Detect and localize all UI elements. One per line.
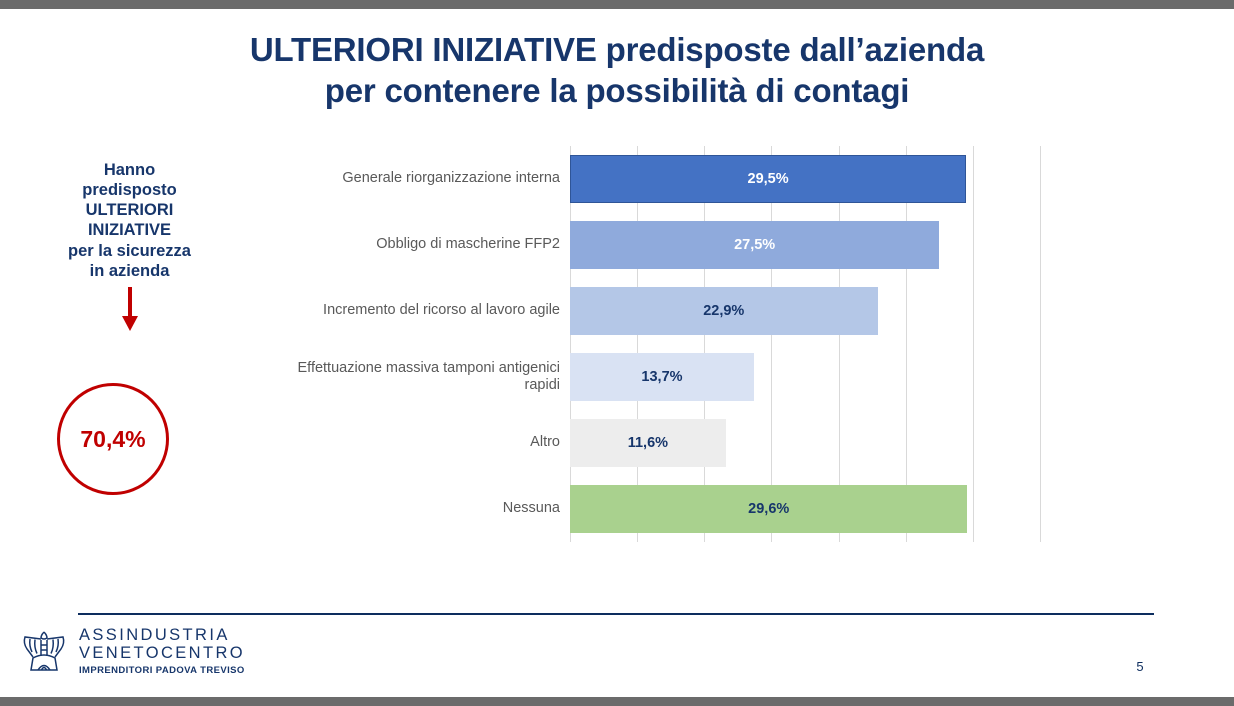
- callout-line-6: in azienda: [22, 261, 237, 281]
- chart-gridline: [1040, 146, 1041, 542]
- footer-divider: [78, 613, 1154, 615]
- highlight-circle: 70,4%: [57, 383, 169, 495]
- assindustria-eagle-logo-icon: [18, 625, 70, 677]
- logo-line-2: VENETOCENTRO: [79, 645, 245, 662]
- callout-block: Hanno predisposto ULTERIORI INIZIATIVE p…: [22, 160, 237, 335]
- chart-category-label: Generale riorganizzazione interna: [280, 170, 570, 187]
- chart-bar-value-label: 27,5%: [734, 237, 775, 253]
- chart-bar-track: 29,6%: [570, 476, 1040, 542]
- chart-category-label: Nessuna: [280, 500, 570, 517]
- page-title-line-2: per contenere la possibilità di contagi: [60, 71, 1174, 112]
- callout-line-3: ULTERIORI: [22, 200, 237, 220]
- chart-category-label: Effettuazione massiva tamponi antigenici…: [280, 360, 570, 395]
- down-arrow-icon: [22, 287, 237, 335]
- chart-category-label: Altro: [280, 434, 570, 451]
- chart-bar-row: Generale riorganizzazione interna29,5%: [280, 146, 1040, 212]
- bar-chart: Generale riorganizzazione interna29,5%Ob…: [280, 146, 1040, 542]
- chart-bar-row: Nessuna29,6%: [280, 476, 1040, 542]
- chart-category-label: Incremento del ricorso al lavoro agile: [280, 302, 570, 319]
- page-title: ULTERIORI INIZIATIVE predisposte dall’az…: [60, 30, 1174, 112]
- chart-bar[interactable]: 27,5%: [570, 221, 939, 269]
- highlight-value: 70,4%: [80, 426, 145, 453]
- chart-bar-track: 13,7%: [570, 344, 1040, 410]
- chart-bar-value-label: 11,6%: [628, 435, 668, 451]
- slide-bottom-bar: [0, 697, 1234, 706]
- chart-bar-row: Effettuazione massiva tamponi antigenici…: [280, 344, 1040, 410]
- chart-category-label: Obbligo di mascherine FFP2: [280, 236, 570, 253]
- chart-bar[interactable]: 11,6%: [570, 419, 726, 467]
- chart-rows: Generale riorganizzazione interna29,5%Ob…: [280, 146, 1040, 542]
- slide-top-bar: [0, 0, 1234, 9]
- slide: ULTERIORI INIZIATIVE predisposte dall’az…: [0, 0, 1234, 706]
- chart-bar-value-label: 13,7%: [641, 369, 682, 385]
- callout-text: Hanno predisposto ULTERIORI INIZIATIVE p…: [22, 160, 237, 281]
- chart-bar-value-label: 29,5%: [748, 171, 789, 187]
- page-title-line-1: ULTERIORI INIZIATIVE predisposte dall’az…: [60, 30, 1174, 71]
- chart-bar[interactable]: 22,9%: [570, 287, 878, 335]
- chart-bar[interactable]: 13,7%: [570, 353, 754, 401]
- logo-line-1: ASSINDUSTRIA: [79, 627, 245, 644]
- callout-line-5: per la sicurezza: [22, 241, 237, 261]
- chart-bar-value-label: 29,6%: [748, 501, 789, 517]
- chart-bar-track: 22,9%: [570, 278, 1040, 344]
- chart-bar-row: Obbligo di mascherine FFP227,5%: [280, 212, 1040, 278]
- chart-bar-track: 27,5%: [570, 212, 1040, 278]
- callout-line-1: Hanno: [22, 160, 237, 180]
- callout-line-2: predisposto: [22, 180, 237, 200]
- logo-tagline: IMPRENDITORI PADOVA TREVISO: [79, 666, 245, 676]
- chart-bar-track: 29,5%: [570, 146, 1040, 212]
- chart-bar-row: Incremento del ricorso al lavoro agile22…: [280, 278, 1040, 344]
- chart-bar[interactable]: 29,5%: [570, 155, 966, 203]
- chart-bar[interactable]: 29,6%: [570, 485, 967, 533]
- chart-bar-row: Altro11,6%: [280, 410, 1040, 476]
- chart-bar-value-label: 22,9%: [703, 303, 744, 319]
- callout-line-4: INIZIATIVE: [22, 220, 237, 240]
- footer-logo: ASSINDUSTRIA VENETOCENTRO IMPRENDITORI P…: [18, 622, 268, 680]
- page-number: 5: [1125, 659, 1155, 674]
- chart-bar-track: 11,6%: [570, 410, 1040, 476]
